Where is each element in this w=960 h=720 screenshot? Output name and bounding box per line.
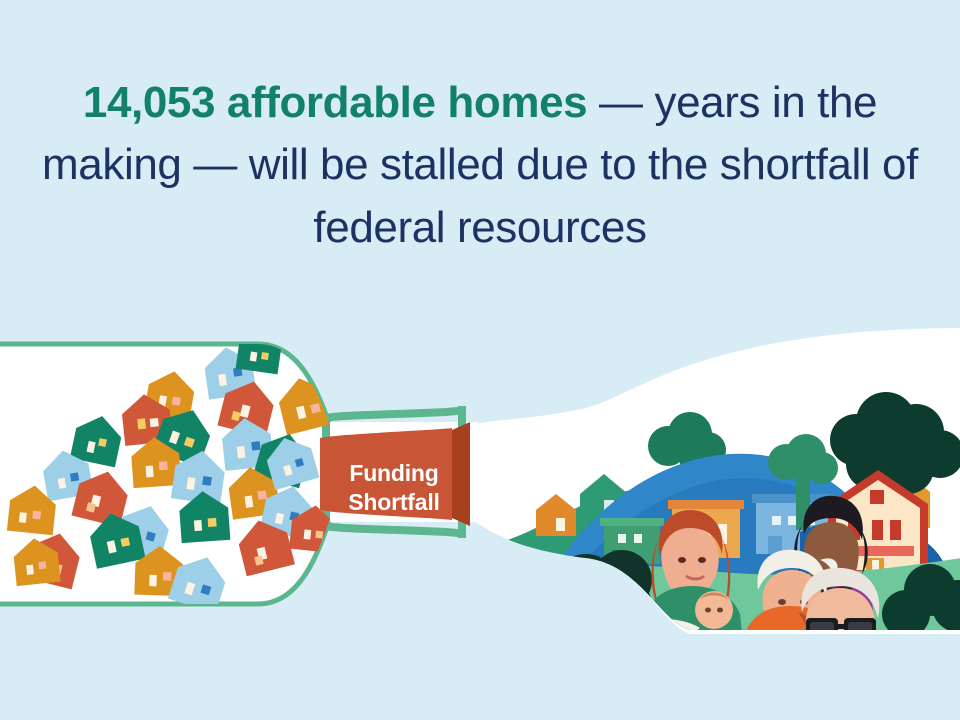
foreground-bush-left: [526, 550, 652, 638]
headline-accent: 14,053 affordable homes: [83, 78, 587, 127]
infographic-canvas: 14,053 affordable homes — years in the m…: [0, 0, 960, 720]
bottleneck-illustration: [0, 322, 960, 652]
page-title: 14,053 affordable homes — years in the m…: [0, 72, 960, 259]
funding-shortfall-block: [320, 422, 470, 526]
